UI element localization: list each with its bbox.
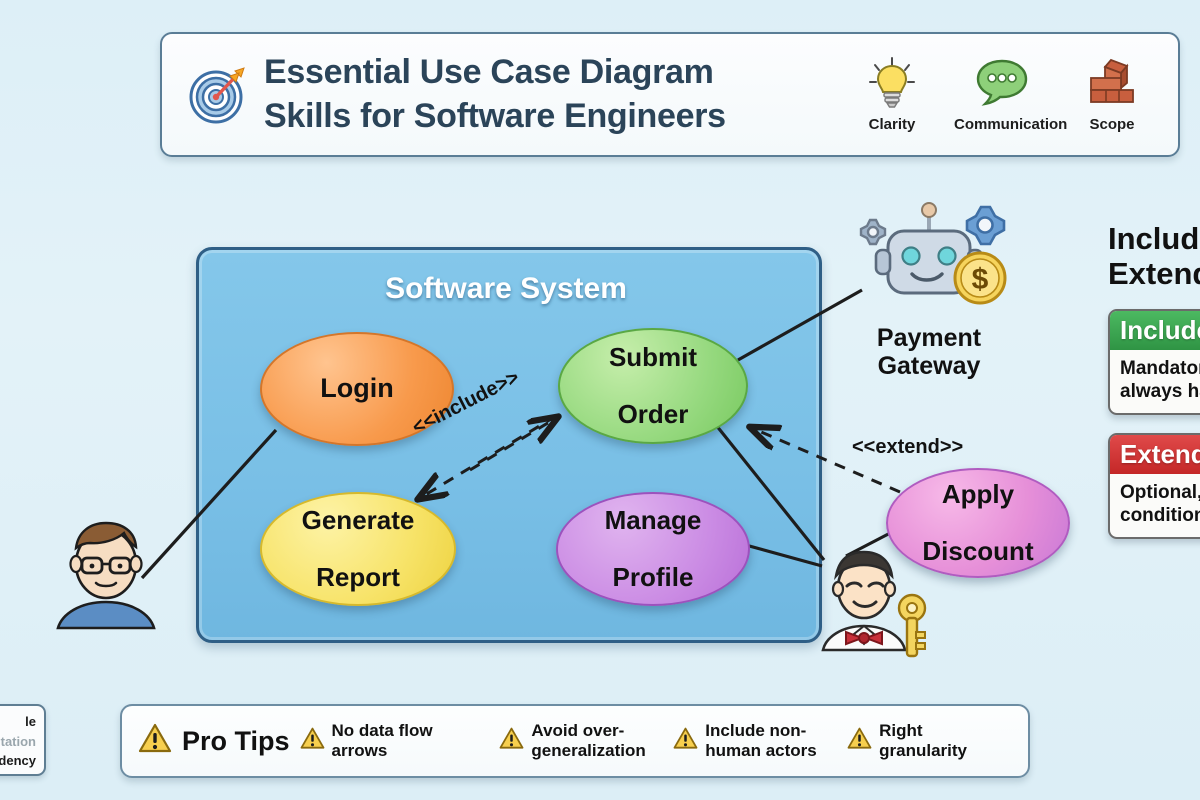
pro-tips-title: Pro Tips	[182, 726, 290, 757]
left-card-line-1: le	[0, 712, 36, 732]
target-dartboard-icon	[186, 63, 250, 127]
warning-triangle-icon	[847, 727, 872, 755]
left-clipped-card[interactable]: le tation ndency	[0, 704, 46, 776]
legend-card-body: Mandatory, always happens	[1110, 350, 1200, 413]
actor-payment-gateway[interactable]: $ Payment Gateway	[836, 198, 1022, 380]
user-avatar-icon	[42, 506, 170, 637]
use-case-submit-order[interactable]: Submit Order	[558, 328, 748, 444]
brick-wall-icon	[1064, 52, 1160, 114]
header-icon-scope: Scope	[1064, 52, 1160, 133]
header-icon-communication: Communication	[954, 52, 1050, 133]
header-banner: Essential Use Case Diagram Skills for So…	[160, 32, 1180, 157]
header-icon-clarity: Clarity	[844, 52, 940, 133]
pro-tip-text: No data flow arrows	[332, 721, 490, 760]
legend-card-include[interactable]: Include Mandatory, always happens	[1108, 309, 1200, 415]
admin-with-key-icon	[806, 536, 936, 665]
header-icon-label: Scope	[1064, 116, 1160, 133]
pro-tip-item: Avoid over-generalization	[499, 721, 663, 760]
header-icon-group: Clarity Communication	[844, 52, 1160, 137]
legend-title-line-2: Extend	[1108, 257, 1200, 292]
legend-title-line-1: Include	[1108, 222, 1200, 257]
page-title: Essential Use Case Diagram Skills for So…	[264, 51, 844, 138]
poster-canvas: Essential Use Case Diagram Skills for So…	[0, 0, 1200, 800]
left-card-line-2: tation	[0, 732, 36, 752]
speech-bubble-icon	[954, 52, 1050, 114]
pro-tip-item: No data flow arrows	[300, 721, 490, 760]
warning-triangle-icon	[673, 727, 698, 755]
warning-triangle-icon	[499, 727, 524, 755]
system-boundary-title: Software System	[196, 272, 816, 306]
warning-triangle-icon	[138, 723, 172, 759]
legend-card-extend[interactable]: Extend Optional, conditional	[1108, 433, 1200, 539]
pro-tips-bar: Pro Tips No data flow arrows Avoid over-…	[120, 704, 1030, 778]
pro-tip-item: Include non-human actors	[673, 721, 837, 760]
svg-text:$: $	[972, 263, 989, 296]
left-card-line-3: ndency	[0, 751, 36, 771]
extend-relationship-label: <<extend>>	[852, 436, 963, 459]
title-line-1: Essential Use Case Diagram	[264, 51, 844, 95]
legend-card-header: Extend	[1110, 435, 1200, 474]
header-icon-label: Communication	[954, 116, 1050, 133]
lightbulb-icon	[844, 52, 940, 114]
legend-card-header: Include	[1110, 311, 1200, 350]
actor-user[interactable]	[42, 506, 170, 637]
actor-label: Payment Gateway	[836, 325, 1022, 380]
legend-card-body: Optional, conditional	[1110, 474, 1200, 537]
use-case-label: Submit Order	[593, 343, 713, 429]
warning-triangle-icon	[300, 727, 325, 755]
pro-tip-text: Avoid over-generalization	[531, 721, 663, 760]
use-case-label: Manage Profile	[589, 506, 718, 592]
pro-tip-text: Right granularity	[879, 721, 1012, 760]
title-line-2: Skills for Software Engineers	[264, 95, 844, 139]
use-case-manage-profile[interactable]: Manage Profile	[556, 492, 750, 606]
use-case-label: Login	[312, 374, 401, 404]
pro-tip-item: Right granularity	[847, 721, 1012, 760]
header-icon-label: Clarity	[844, 116, 940, 133]
pro-tip-text: Include non-human actors	[705, 721, 837, 760]
legend-panel: Include Extend Include Mandatory, always…	[1108, 222, 1200, 539]
robot-payment-icon: $	[836, 198, 1022, 323]
use-case-label: Generate Report	[286, 506, 431, 592]
use-case-generate-report[interactable]: Generate Report	[260, 492, 456, 606]
actor-admin[interactable]	[806, 536, 936, 665]
